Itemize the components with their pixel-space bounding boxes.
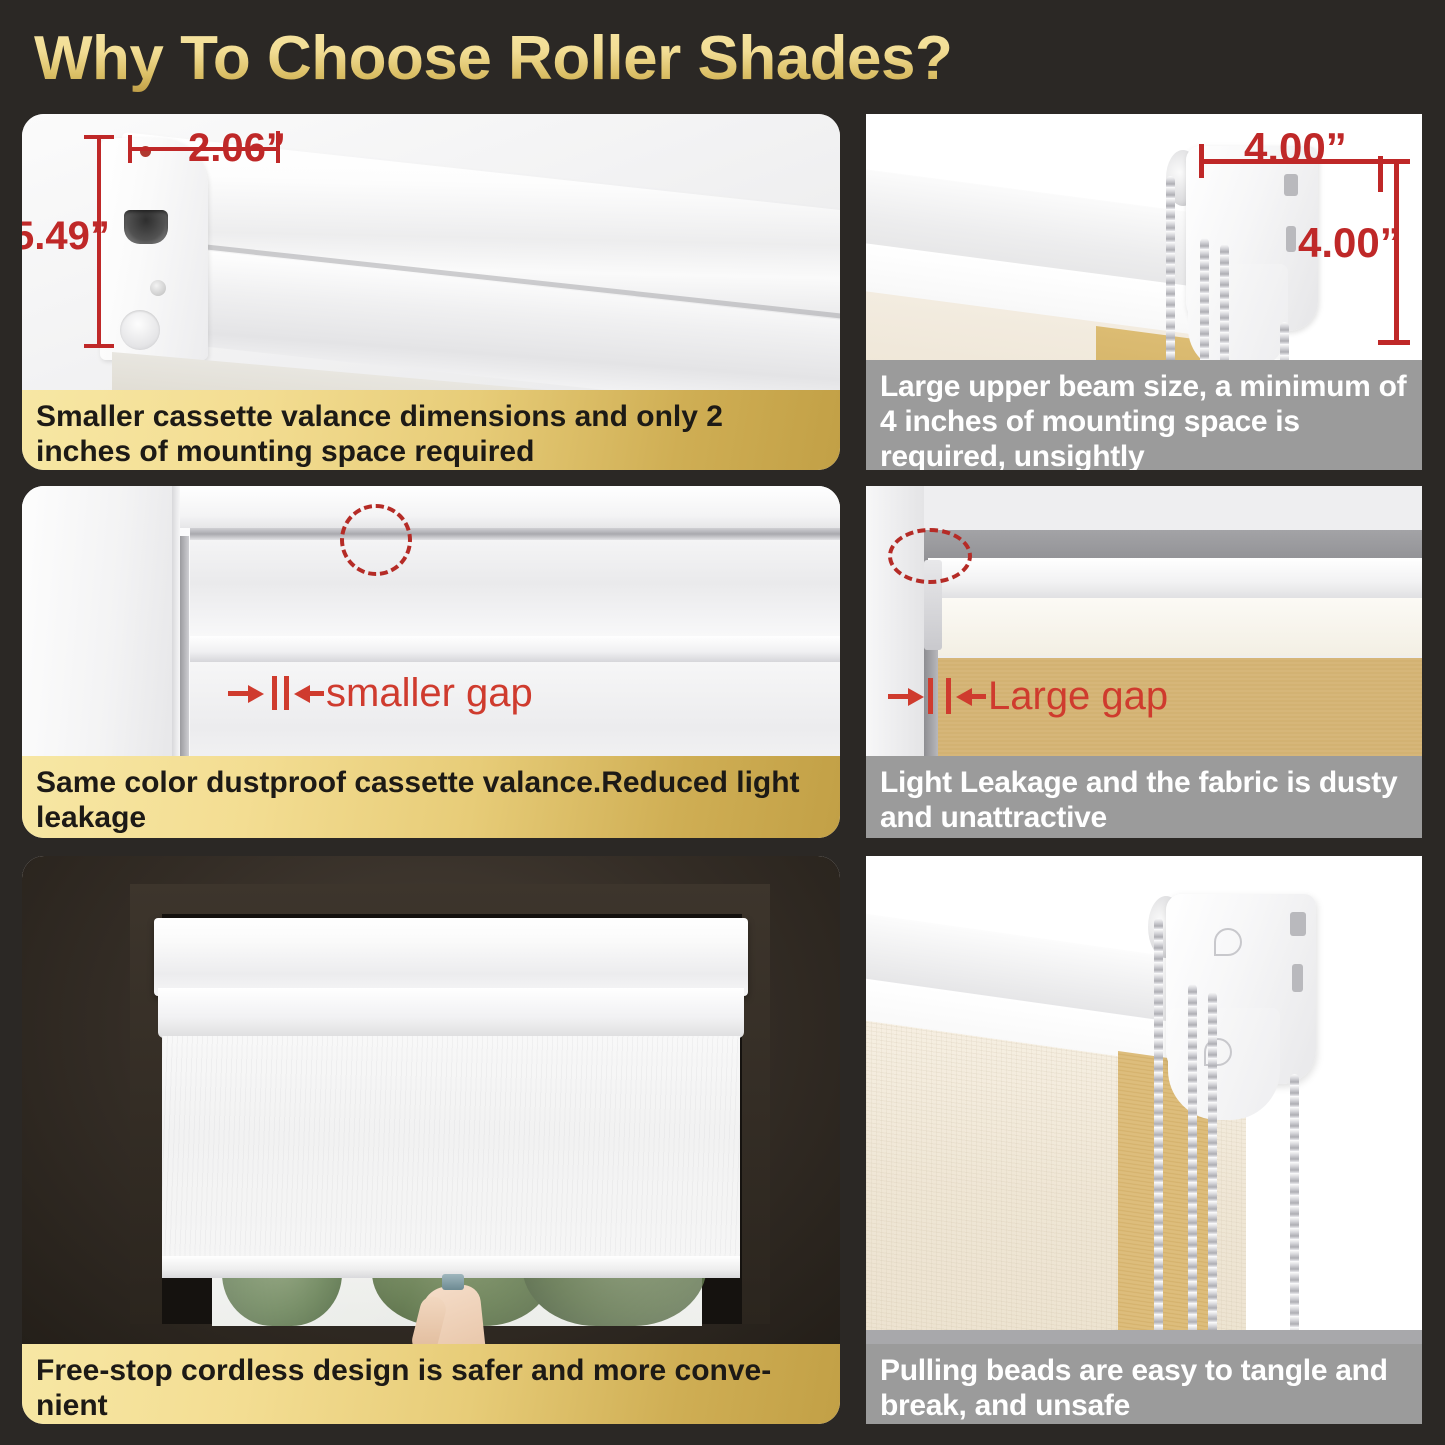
gap-arrow-left-head xyxy=(294,685,310,703)
shade-slat xyxy=(190,636,840,662)
caption-con-light-leakage: Light Leakage and the fabric is dusty an… xyxy=(866,756,1422,838)
bead-chain-mid xyxy=(1200,238,1209,376)
photo-window-valance: smaller gap xyxy=(22,486,840,756)
beam-width-tick-left xyxy=(1199,144,1204,178)
panel-con-light-leakage: Large gap Light Leakage and the fabric i… xyxy=(866,486,1422,838)
photo-cassette-closeup: 2.06” 5.49” xyxy=(22,114,840,392)
panel-pro-cordless-design: Free-stop cordless design is safer and m… xyxy=(22,856,840,1424)
gap-label-smaller: smaller gap xyxy=(326,671,533,716)
shade-fabric-upper xyxy=(190,540,840,636)
beam-height-label: 4.00” xyxy=(1298,219,1401,267)
highlight-circle-valance xyxy=(340,504,412,576)
bead-chain-far-right xyxy=(1290,1074,1299,1344)
beam-height-tick-top xyxy=(1378,159,1410,164)
shade-fabric xyxy=(162,1036,740,1274)
window-frame-left xyxy=(22,486,172,756)
bead-chain-left xyxy=(1154,918,1163,1344)
bracket-notch-mid xyxy=(1286,226,1296,252)
end-cap-screw xyxy=(150,280,166,296)
bracket-notch-mid xyxy=(1292,964,1303,992)
cassette-valance-lower xyxy=(158,988,744,1038)
bead-chain-right xyxy=(1208,992,1217,1344)
height-dimension-label: 5.49” xyxy=(22,214,110,259)
panel-pro-dustproof-valance: smaller gap Same color dustproof cassett… xyxy=(22,486,840,838)
photo-bead-chain-roller xyxy=(866,856,1422,1344)
floor-strip xyxy=(866,1330,1422,1344)
bead-chain-left xyxy=(1166,176,1175,376)
gap-arrow-right-head xyxy=(248,685,264,703)
cordless-pull-handle xyxy=(442,1274,464,1290)
caption-con-pulling-beads: Pulling beads are easy to tangle and bre… xyxy=(866,1344,1422,1424)
gap-arrow-stem-left xyxy=(888,694,910,699)
caption-pro-cordless-design: Free-stop cordless design is safer and m… xyxy=(22,1344,840,1424)
photo-room-window xyxy=(22,856,840,1344)
wall-surface xyxy=(866,486,924,756)
caption-pro-cassette-size: Smaller cassette valance dimensions and … xyxy=(22,390,840,470)
caption-con-beam-size: Large upper beam size, a minimum of 4 in… xyxy=(866,360,1422,470)
panel-con-beam-size: 4.00” 4.00” Large upper beam size, a min… xyxy=(866,114,1422,470)
bracket-notch-top xyxy=(1290,912,1306,936)
page-title: Why To Choose Roller Shades? xyxy=(34,20,1034,98)
beam-width-label: 4.00” xyxy=(1244,124,1347,172)
gap-arrow-stem-right xyxy=(972,694,986,699)
gap-tick-left xyxy=(272,676,277,710)
height-dim-tick-bottom xyxy=(84,344,114,348)
cassette-valance xyxy=(154,918,748,996)
end-cap-dial xyxy=(120,310,160,350)
gap-arrow-stem-right xyxy=(310,691,324,696)
width-dim-tick-left xyxy=(128,135,132,163)
highlight-circle-gap xyxy=(888,528,972,584)
window-frame-edge xyxy=(172,486,180,756)
shade-fabric-texture xyxy=(162,1036,740,1274)
bracket-icon-upper xyxy=(1214,928,1242,956)
gap-arrow-left-head xyxy=(956,688,972,706)
caption-pro-dustproof-valance: Same color dustproof cassette valance.Re… xyxy=(22,756,840,838)
infographic-page: Why To Choose Roller Shades? 2.06” xyxy=(0,0,1445,1445)
width-dimension-label: 2.06” xyxy=(188,126,286,171)
shade-side-edge xyxy=(180,536,189,756)
window-frame-top xyxy=(172,486,840,528)
fabric-white-band xyxy=(928,598,1422,656)
gap-tick-right xyxy=(946,678,951,714)
gap-arrow-stem-left xyxy=(228,691,250,696)
cassette-rail xyxy=(190,528,840,540)
roller-tube xyxy=(928,558,1422,602)
photo-light-leakage: Large gap xyxy=(866,486,1422,756)
gap-tick-left xyxy=(928,678,933,714)
gap-label-large: Large gap xyxy=(988,674,1168,719)
gap-tick-right xyxy=(284,676,289,710)
panel-pro-cassette-size: 2.06” 5.49” Smaller cassette valance dim… xyxy=(22,114,840,470)
bead-chain-right xyxy=(1220,244,1229,376)
bracket-notch-top xyxy=(1284,174,1298,196)
end-cap-slot xyxy=(124,210,168,244)
photo-large-beam: 4.00” 4.00” xyxy=(866,114,1422,376)
valance-end-cap xyxy=(100,138,208,360)
bead-chain-mid xyxy=(1188,984,1197,1344)
gap-arrow-right-head xyxy=(908,688,924,706)
height-dim-tick-top xyxy=(84,135,114,139)
panel-con-pulling-beads: Pulling beads are easy to tangle and bre… xyxy=(866,856,1422,1424)
beam-height-tick-bottom xyxy=(1378,340,1410,345)
